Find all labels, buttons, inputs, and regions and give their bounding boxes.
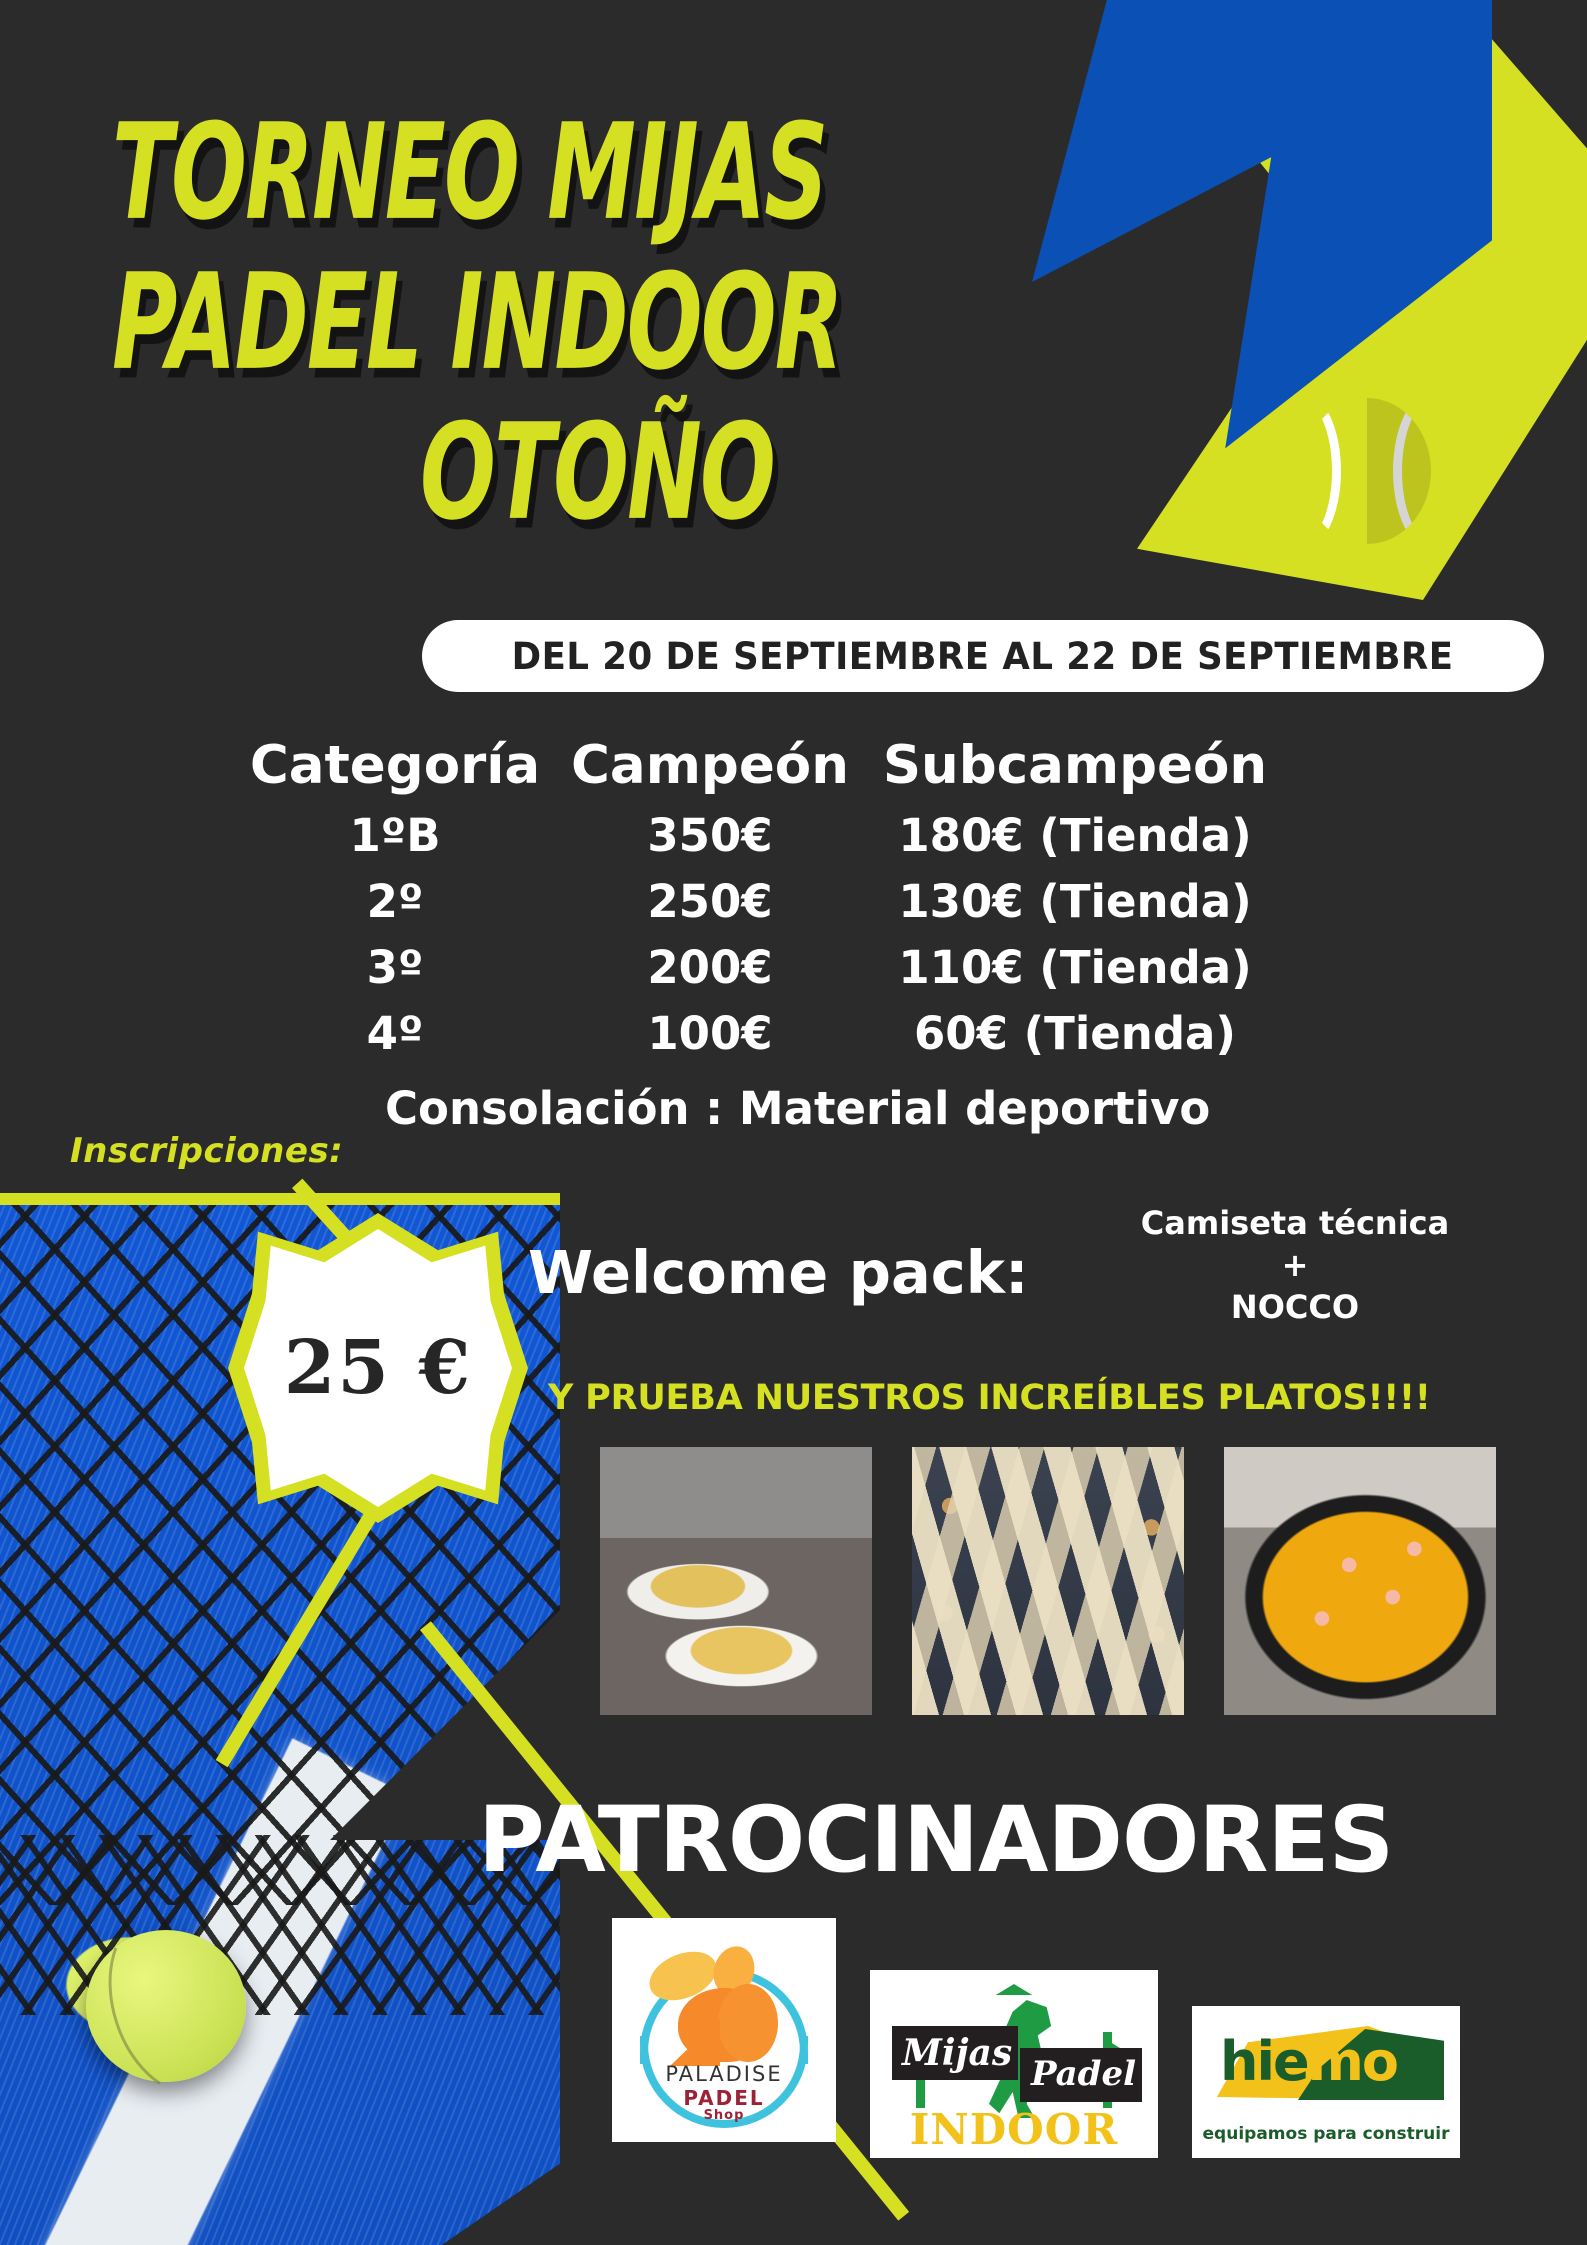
mijas-word-left: Mijas — [902, 2032, 1012, 2074]
sponsors-title: PATROCINADORES — [478, 1788, 1393, 1893]
cell-runnerup: 130€ (Tienda) — [860, 875, 1290, 928]
cell-champion: 350€ — [560, 809, 860, 862]
court-tennis-ball — [86, 1930, 246, 2082]
cell-category: 3º — [230, 941, 560, 994]
paladise-name: PALADISE — [626, 2062, 822, 2086]
date-banner: DEL 20 DE SEPTIEMBRE AL 22 DE SEPTIEMBRE — [422, 620, 1544, 692]
hiemo-tagline: equipamos para construir — [1202, 2124, 1450, 2144]
tortilla-espanola-photo — [600, 1447, 872, 1715]
table-row: 3º 200€ 110€ (Tienda) — [230, 941, 1410, 994]
hiemo-word-green: hie — [1220, 2030, 1308, 2093]
cell-champion: 250€ — [560, 875, 860, 928]
food-tagline: Y PRUEBA NUESTROS INCREÍBLES PLATOS!!!! — [548, 1378, 1431, 1418]
price-badge: 25 € — [228, 1213, 528, 1523]
cell-champion: 100€ — [560, 1007, 860, 1060]
ball-seam-left — [1303, 398, 1341, 544]
cell-category: 1ºB — [230, 809, 560, 862]
welcome-pack-title: Welcome pack: — [528, 1238, 1029, 1307]
headline-line-3: OTOÑO — [420, 395, 1238, 550]
food-photo-gallery — [600, 1447, 1496, 1715]
consolation-text: Consolación : Material deportivo — [385, 1082, 1410, 1135]
paladise-shop-label: Shop — [626, 2108, 822, 2123]
prize-table: Categoría Campeón Subcampeón 1ºB 350€ 18… — [230, 735, 1410, 1135]
cell-runnerup: 180€ (Tienda) — [860, 809, 1290, 862]
prize-header-champion: Campeón — [560, 735, 860, 796]
paladise-body-2 — [718, 1984, 778, 2062]
hiemo-word-yellow: mo — [1308, 2030, 1397, 2093]
cell-category: 2º — [230, 875, 560, 928]
date-banner-text: DEL 20 DE SEPTIEMBRE AL 22 DE SEPTIEMBRE — [512, 635, 1454, 678]
registration-label: Inscripciones: — [70, 1131, 343, 1171]
tennis-ball-icon — [1303, 398, 1431, 544]
poster-headline: TORNEO MIJAS PADEL INDOOR OTOÑO — [0, 95, 1300, 507]
table-row: 4º 100€ 60€ (Tienda) — [230, 1007, 1410, 1060]
cell-champion: 200€ — [560, 941, 860, 994]
sponsor-logo-hiemo: hiemo equipamos para construir — [1192, 2006, 1460, 2158]
welcome-pack-plus: + — [1100, 1244, 1490, 1286]
mijas-indoor-label: INDOOR — [878, 2105, 1150, 2154]
hiemo-wordmark: hiemo — [1220, 2030, 1397, 2093]
prize-header-category: Categoría — [230, 735, 560, 796]
poster-canvas: TORNEO MIJAS PADEL INDOOR OTOÑO DEL 20 D… — [0, 0, 1587, 2245]
table-row: 2º 250€ 130€ (Tienda) — [230, 875, 1410, 928]
headline-line-2: PADEL INDOOR — [112, 245, 1217, 400]
welcome-pack-item-2: NOCCO — [1100, 1286, 1490, 1328]
chevron-top-edge — [0, 1193, 560, 1205]
mijas-word-right: Padel — [1031, 2054, 1136, 2094]
paella-with-shrimp-photo — [1224, 1447, 1496, 1715]
welcome-pack-contents: Camiseta técnica + NOCCO — [1100, 1202, 1490, 1329]
cell-runnerup: 60€ (Tienda) — [860, 1007, 1290, 1060]
cell-runnerup: 110€ (Tienda) — [860, 941, 1290, 994]
prize-header-runnerup: Subcampeón — [860, 735, 1290, 796]
prize-table-header-row: Categoría Campeón Subcampeón — [230, 735, 1410, 796]
sponsor-logo-mijas-padel-indoor: Mijas Padel INDOOR — [870, 1970, 1158, 2158]
price-badge-inner: 25 € — [244, 1229, 512, 1507]
sponsor-logo-row: PALADISE PADEL Shop Mijas Padel INDOOR — [612, 1918, 1460, 2158]
welcome-pack-item-1: Camiseta técnica — [1100, 1202, 1490, 1244]
paladise-subtitle: PADEL — [626, 2086, 822, 2110]
hiemo-icon: hiemo equipamos para construir — [1202, 2018, 1450, 2146]
table-row: 1ºB 350€ 180€ (Tienda) — [230, 809, 1410, 862]
mijas-padel-icon: Mijas Padel INDOOR — [878, 1978, 1150, 2150]
cheese-and-walnuts-board-photo — [912, 1447, 1184, 1715]
price-badge-value: 25 € — [284, 1325, 472, 1411]
headline-line-1: TORNEO MIJAS — [112, 95, 1217, 250]
paladise-bee-icon: PALADISE PADEL Shop — [626, 1932, 822, 2128]
cell-category: 4º — [230, 1007, 560, 1060]
sponsor-logo-paladise: PALADISE PADEL Shop — [612, 1918, 836, 2142]
